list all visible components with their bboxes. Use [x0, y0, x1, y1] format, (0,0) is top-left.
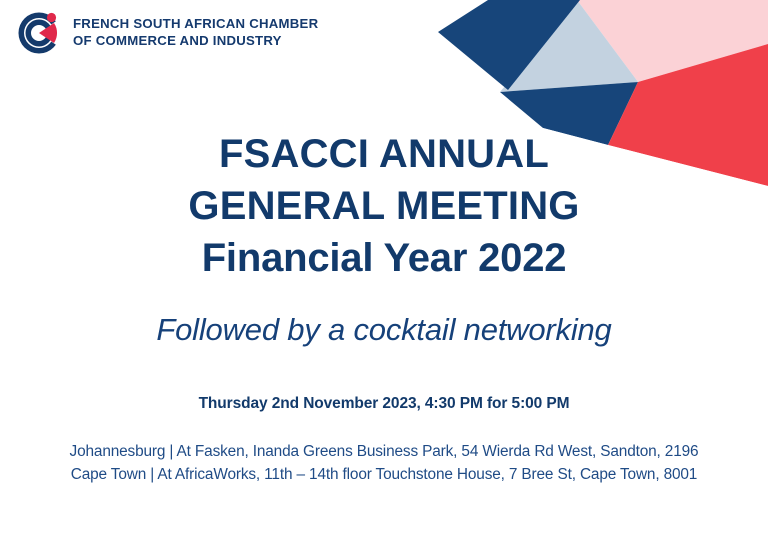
- cci-chamber-logo-icon: [16, 10, 62, 56]
- event-title-line-3: Financial Year 2022: [188, 232, 579, 284]
- event-title: FSACCI ANNUAL GENERAL MEETING Financial …: [188, 128, 579, 284]
- brand-name-line-2: OF COMMERCE AND INDUSTRY: [73, 33, 318, 50]
- brand-name-line-1: FRENCH SOUTH AFRICAN CHAMBER: [73, 16, 318, 33]
- event-title-line-2: GENERAL MEETING: [188, 180, 579, 232]
- brand-name: FRENCH SOUTH AFRICAN CHAMBER OF COMMERCE…: [73, 16, 318, 50]
- event-title-line-1: FSACCI ANNUAL: [188, 128, 579, 180]
- poster-content: FSACCI ANNUAL GENERAL MEETING Financial …: [0, 0, 768, 543]
- event-subtitle: Followed by a cocktail networking: [156, 312, 611, 348]
- venue-line-cape-town: Cape Town | At AfricaWorks, 11th – 14th …: [70, 463, 699, 486]
- venue-list: Johannesburg | At Fasken, Inanda Greens …: [70, 440, 699, 487]
- event-datetime: Thursday 2nd November 2023, 4:30 PM for …: [199, 395, 570, 413]
- poster-canvas: FRENCH SOUTH AFRICAN CHAMBER OF COMMERCE…: [0, 0, 768, 543]
- brand-header: FRENCH SOUTH AFRICAN CHAMBER OF COMMERCE…: [16, 10, 318, 56]
- venue-line-johannesburg: Johannesburg | At Fasken, Inanda Greens …: [70, 440, 699, 463]
